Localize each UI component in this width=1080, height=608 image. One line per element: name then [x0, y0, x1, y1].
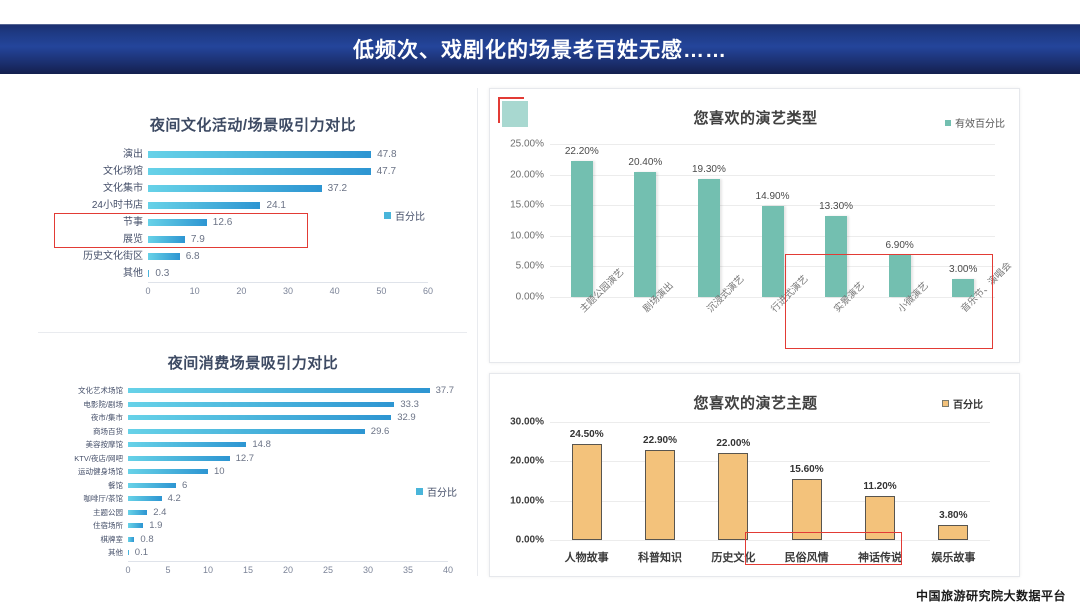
bar-fill	[148, 236, 185, 243]
bar-category-label: KTV/夜店/网吧	[48, 455, 128, 463]
bar-value-label: 33.3	[400, 399, 419, 410]
bar-track: 14.8	[128, 438, 468, 452]
x-tick-label: 60	[423, 286, 433, 296]
x-category-label: 科普知识	[638, 549, 682, 565]
chart-title-night-consumption: 夜间消费场景吸引力对比	[28, 352, 478, 373]
bar-category-label: 其他	[48, 549, 128, 557]
bar-row: 夜市/集市32.9	[48, 411, 468, 425]
bar-category-label: 运动健身场馆	[48, 468, 128, 476]
bar-value-label: 0.3	[155, 268, 169, 279]
bar-track: 0.3	[148, 265, 448, 282]
bar-category-label: 棋牌室	[48, 536, 128, 544]
bar-value-label: 24.50%	[570, 429, 604, 440]
x-tick-label: 35	[403, 565, 413, 575]
bar-row: 其他0.1	[48, 546, 468, 560]
bar-row: 历史文化街区6.8	[58, 248, 448, 265]
bar	[825, 216, 847, 297]
bar-fill	[148, 270, 149, 277]
bar-row: 住宿场所1.9	[48, 519, 468, 533]
bar-value-label: 6.90%	[885, 240, 913, 251]
gridline	[550, 422, 990, 423]
y-tick-label: 25.00%	[510, 139, 544, 150]
bar-track: 37.2	[148, 180, 448, 197]
bar-track: 10	[128, 465, 468, 479]
bar-value-label: 22.90%	[643, 435, 677, 446]
bar-row: 电影院/剧场33.3	[48, 398, 468, 412]
panel-performance-theme: 您喜欢的演艺主题 百分比 0.00%10.00%20.00%30.00% 24.…	[489, 373, 1020, 577]
chart-performance-theme: 0.00%10.00%20.00%30.00% 24.50%22.90%22.0…	[490, 374, 1021, 578]
panel-left-charts: 夜间文化活动/场景吸引力对比 演出47.8文化场馆47.7文化集市37.224小…	[28, 88, 478, 576]
legend-label: 百分比	[395, 208, 425, 223]
x-tick-label: 10	[190, 286, 200, 296]
bar-value-label: 10	[214, 466, 225, 477]
bar-value-label: 14.90%	[756, 191, 790, 202]
legend-swatch-icon	[416, 488, 423, 495]
bar-track: 47.7	[148, 163, 448, 180]
bar-row: 主题公园2.4	[48, 506, 468, 520]
bar-value-label: 7.9	[191, 234, 205, 245]
bar-rows: 文化艺术场馆37.7电影院/剧场33.3夜市/集市32.9商场百货29.6美容按…	[48, 384, 468, 560]
bar-fill	[128, 442, 246, 447]
y-tick-label: 0.00%	[516, 535, 544, 546]
bar-track: 6.8	[148, 248, 448, 265]
bar-value-label: 13.30%	[819, 201, 853, 212]
bar-category-label: 餐馆	[48, 482, 128, 490]
bar-fill	[128, 537, 134, 542]
bar-category-label: 文化艺术场馆	[48, 387, 128, 395]
bar	[572, 444, 602, 540]
bar-track: 0.8	[128, 533, 468, 547]
x-category-label: 神话传说	[858, 549, 902, 565]
bar-category-label: 历史文化街区	[58, 252, 148, 262]
chart-performance-type: 0.00%5.00%10.00%15.00%20.00%25.00% 22.20…	[490, 89, 1021, 364]
y-tick-label: 5.00%	[516, 261, 544, 272]
bar-value-label: 37.2	[328, 183, 347, 194]
axis-baseline	[128, 561, 448, 562]
chart-night-culture: 演出47.8文化场馆47.7文化集市37.224小时书店24.1节事12.6展览…	[28, 146, 478, 306]
bar	[792, 479, 822, 540]
bar-fill	[148, 253, 180, 260]
x-category-label: 民俗风情	[785, 549, 829, 565]
x-tick-label: 20	[283, 565, 293, 575]
bar-track: 1.9	[128, 519, 468, 533]
bar-value-label: 14.8	[252, 439, 271, 450]
x-category-label: 娱乐故事	[931, 549, 975, 565]
bar-value-label: 29.6	[371, 426, 390, 437]
bar-row: 美容按摩馆14.8	[48, 438, 468, 452]
bar-fill	[148, 151, 371, 158]
legend-label: 百分比	[427, 484, 457, 499]
bar	[938, 525, 968, 540]
bar	[762, 206, 784, 297]
bar-row: 棋牌室0.8	[48, 533, 468, 547]
bar	[865, 496, 895, 540]
bar-track: 32.9	[128, 411, 468, 425]
bar-value-label: 4.2	[168, 493, 181, 504]
x-axis-ticks: 0102030405060	[148, 286, 428, 300]
bar-category-label: 文化集市	[58, 184, 148, 194]
bar-fill	[148, 185, 322, 192]
x-tick-label: 30	[363, 565, 373, 575]
x-tick-label: 50	[376, 286, 386, 296]
bar-track: 0.1	[128, 546, 468, 560]
bar-track: 47.8	[148, 146, 448, 163]
header-banner: 低频次、戏剧化的场景老百姓无感……	[0, 24, 1080, 74]
y-tick-label: 0.00%	[516, 292, 544, 303]
page-title: 低频次、戏剧化的场景老百姓无感……	[353, 34, 727, 64]
bar-value-label: 19.30%	[692, 164, 726, 175]
x-tick-label: 25	[323, 565, 333, 575]
bar-fill	[128, 415, 391, 420]
bar-category-label: 主题公园	[48, 509, 128, 517]
bar-category-label: 节事	[58, 218, 148, 228]
bar-value-label: 1.9	[149, 520, 162, 531]
bar-fill	[148, 168, 371, 175]
x-tick-label: 10	[203, 565, 213, 575]
bar-value-label: 6	[182, 480, 187, 491]
bar-value-label: 12.7	[236, 453, 255, 464]
bar-row: 商场百货29.6	[48, 425, 468, 439]
y-tick-label: 30.00%	[510, 417, 544, 428]
bar-row: 餐馆6	[48, 479, 468, 493]
bar-value-label: 47.7	[377, 166, 396, 177]
bar-row: 演出47.8	[58, 146, 448, 163]
bar-category-label: 展览	[58, 235, 148, 245]
bar-fill	[128, 496, 162, 501]
axis-baseline	[148, 282, 428, 283]
bar-row: 文化集市37.2	[58, 180, 448, 197]
bar-row: 展览7.9	[58, 231, 448, 248]
bar-fill	[128, 402, 394, 407]
bar-value-label: 11.20%	[863, 481, 896, 492]
bar-fill	[128, 483, 176, 488]
bar-fill	[128, 469, 208, 474]
bar-value-label: 37.7	[436, 385, 455, 396]
bar-fill	[128, 523, 143, 528]
x-axis-ticks: 0510152025303540	[128, 565, 448, 579]
x-tick-label: 20	[236, 286, 246, 296]
bar-value-label: 3.00%	[949, 264, 977, 275]
x-tick-label: 15	[243, 565, 253, 575]
bar-row: 其他0.3	[58, 265, 448, 282]
bar-fill	[128, 429, 365, 434]
bar-category-label: 文化场馆	[58, 167, 148, 177]
bar-fill	[128, 388, 430, 393]
gridline	[550, 501, 990, 502]
bar-value-label: 0.1	[135, 547, 148, 558]
bar-value-label: 3.80%	[939, 510, 967, 521]
bar-track: 29.6	[128, 425, 468, 439]
bar-category-label: 美容按摩馆	[48, 441, 128, 449]
bar-value-label: 2.4	[153, 507, 166, 518]
y-tick-label: 20.00%	[510, 169, 544, 180]
bar-track: 33.3	[128, 398, 468, 412]
x-tick-label: 40	[443, 565, 453, 575]
gridline	[550, 540, 990, 541]
bar-fill	[148, 219, 207, 226]
bar-category-label: 24小时书店	[58, 201, 148, 211]
bar-row: 运动健身场馆10	[48, 465, 468, 479]
bar-fill	[128, 550, 129, 555]
gridline	[550, 461, 990, 462]
bar-category-label: 其他	[58, 269, 148, 279]
bar-value-label: 6.8	[186, 251, 200, 262]
slide-body: 夜间文化活动/场景吸引力对比 演出47.8文化场馆47.7文化集市37.224小…	[0, 74, 1080, 608]
bar-row: 文化场馆47.7	[58, 163, 448, 180]
x-tick-label: 40	[330, 286, 340, 296]
x-tick-label: 0	[145, 286, 150, 296]
bar-track: 37.7	[128, 384, 468, 398]
bar-category-label: 咖啡厅/茶馆	[48, 495, 128, 503]
bar-category-label: 住宿场所	[48, 522, 128, 530]
bar-fill	[128, 456, 230, 461]
gridline	[550, 144, 995, 145]
chart-night-consumption: 文化艺术场馆37.7电影院/剧场33.3夜市/集市32.9商场百货29.6美容按…	[28, 384, 478, 574]
bar-track: 7.9	[148, 231, 448, 248]
bar-fill	[128, 510, 147, 515]
bar	[718, 453, 748, 540]
x-tick-label: 5	[165, 565, 170, 575]
bar-fill	[148, 202, 260, 209]
bar-category-label: 夜市/集市	[48, 414, 128, 422]
legend-swatch-icon	[384, 212, 391, 219]
x-tick-label: 30	[283, 286, 293, 296]
x-category-label: 历史文化	[711, 549, 755, 565]
bar-value-label: 15.60%	[790, 464, 824, 475]
bar-value-label: 24.1	[266, 200, 285, 211]
y-tick-label: 15.00%	[510, 200, 544, 211]
bar-value-label: 47.8	[377, 149, 396, 160]
bar-category-label: 演出	[58, 150, 148, 160]
y-tick-label: 20.00%	[510, 456, 544, 467]
bar-category-label: 电影院/剧场	[48, 401, 128, 409]
x-tick-label: 0	[125, 565, 130, 575]
bar	[645, 450, 675, 540]
bar-row: 咖啡厅/茶馆4.2	[48, 492, 468, 506]
x-category-label: 人物故事	[565, 549, 609, 565]
chart-title-night-culture: 夜间文化活动/场景吸引力对比	[28, 114, 478, 135]
bar-track: 12.7	[128, 452, 468, 466]
gridline	[550, 175, 995, 176]
bar-row: 文化艺术场馆37.7	[48, 384, 468, 398]
bar-value-label: 32.9	[397, 412, 416, 423]
bar-category-label: 商场百货	[48, 428, 128, 436]
y-tick-label: 10.00%	[510, 230, 544, 241]
bar	[571, 161, 593, 297]
bar	[634, 172, 656, 297]
legend-night-culture: 百分比	[384, 208, 425, 223]
bar-row: KTV/夜店/网吧12.7	[48, 452, 468, 466]
bar-value-label: 22.00%	[716, 438, 750, 449]
bar	[698, 179, 720, 297]
bar-value-label: 12.6	[213, 217, 232, 228]
y-tick-label: 10.00%	[510, 495, 544, 506]
panel-performance-type: 您喜欢的演艺类型 有效百分比 0.00%5.00%10.00%15.00%20.…	[489, 88, 1020, 363]
bar-value-label: 22.20%	[565, 146, 599, 157]
panel-divider	[38, 332, 467, 333]
footer-attribution: 中国旅游研究院大数据平台	[916, 587, 1066, 604]
bar-value-label: 0.8	[140, 534, 153, 545]
bar-value-label: 20.40%	[628, 157, 662, 168]
bar-track: 2.4	[128, 506, 468, 520]
legend-night-consumption: 百分比	[416, 484, 457, 499]
